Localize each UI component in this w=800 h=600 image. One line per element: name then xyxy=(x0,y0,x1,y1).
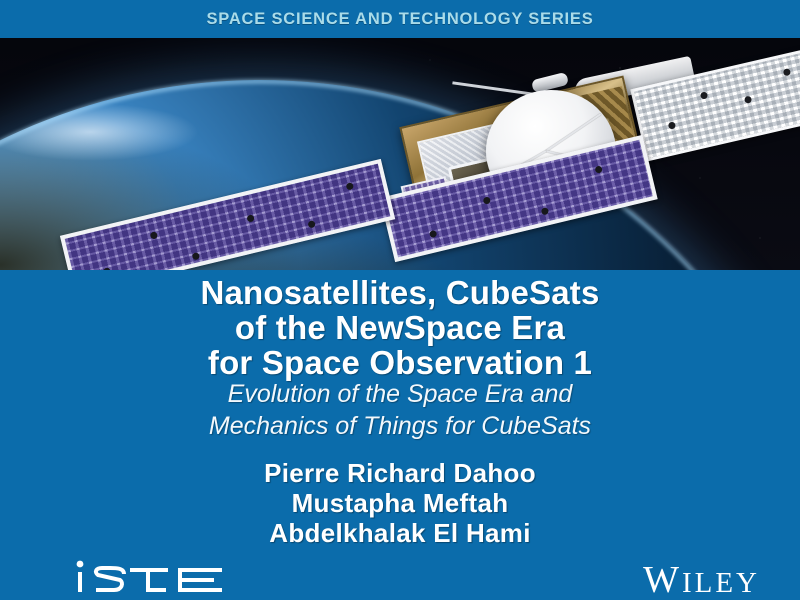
satellite-illustration xyxy=(0,38,800,270)
cover-artwork xyxy=(0,38,800,270)
series-band: SPACE SCIENCE AND TECHNOLOGY SERIES xyxy=(0,0,800,38)
author-list: Pierre Richard Dahoo Mustapha Meftah Abd… xyxy=(0,458,800,548)
title-line-2: of the NewSpace Era xyxy=(0,310,800,345)
wiley-logo-rest: ILEY xyxy=(682,567,760,599)
book-title: Nanosatellites, CubeSats of the NewSpace… xyxy=(0,275,800,380)
author-3: Abdelkhalak El Hami xyxy=(0,518,800,548)
title-line-1: Nanosatellites, CubeSats xyxy=(0,275,800,310)
wiley-logo: WILEY xyxy=(643,560,760,600)
subtitle-line-2: Mechanics of Things for CubeSats xyxy=(0,410,800,442)
author-2: Mustapha Meftah xyxy=(0,488,800,518)
subtitle-line-1: Evolution of the Space Era and xyxy=(0,378,800,410)
title-line-3: for Space Observation 1 xyxy=(0,345,800,380)
book-subtitle: Evolution of the Space Era and Mechanics… xyxy=(0,378,800,442)
publisher-logos: WILEY xyxy=(0,558,800,600)
book-cover: SPACE SCIENCE AND TECHNOLOGY SERIES xyxy=(0,0,800,600)
wiley-logo-initial: W xyxy=(643,559,682,600)
iste-logo-dot xyxy=(77,561,84,568)
cover-text-panel: Nanosatellites, CubeSats of the NewSpace… xyxy=(0,270,800,600)
iste-logo xyxy=(72,556,242,600)
author-1: Pierre Richard Dahoo xyxy=(0,458,800,488)
purple-solar-array-inner xyxy=(60,159,395,270)
series-title: SPACE SCIENCE AND TECHNOLOGY SERIES xyxy=(206,10,593,29)
